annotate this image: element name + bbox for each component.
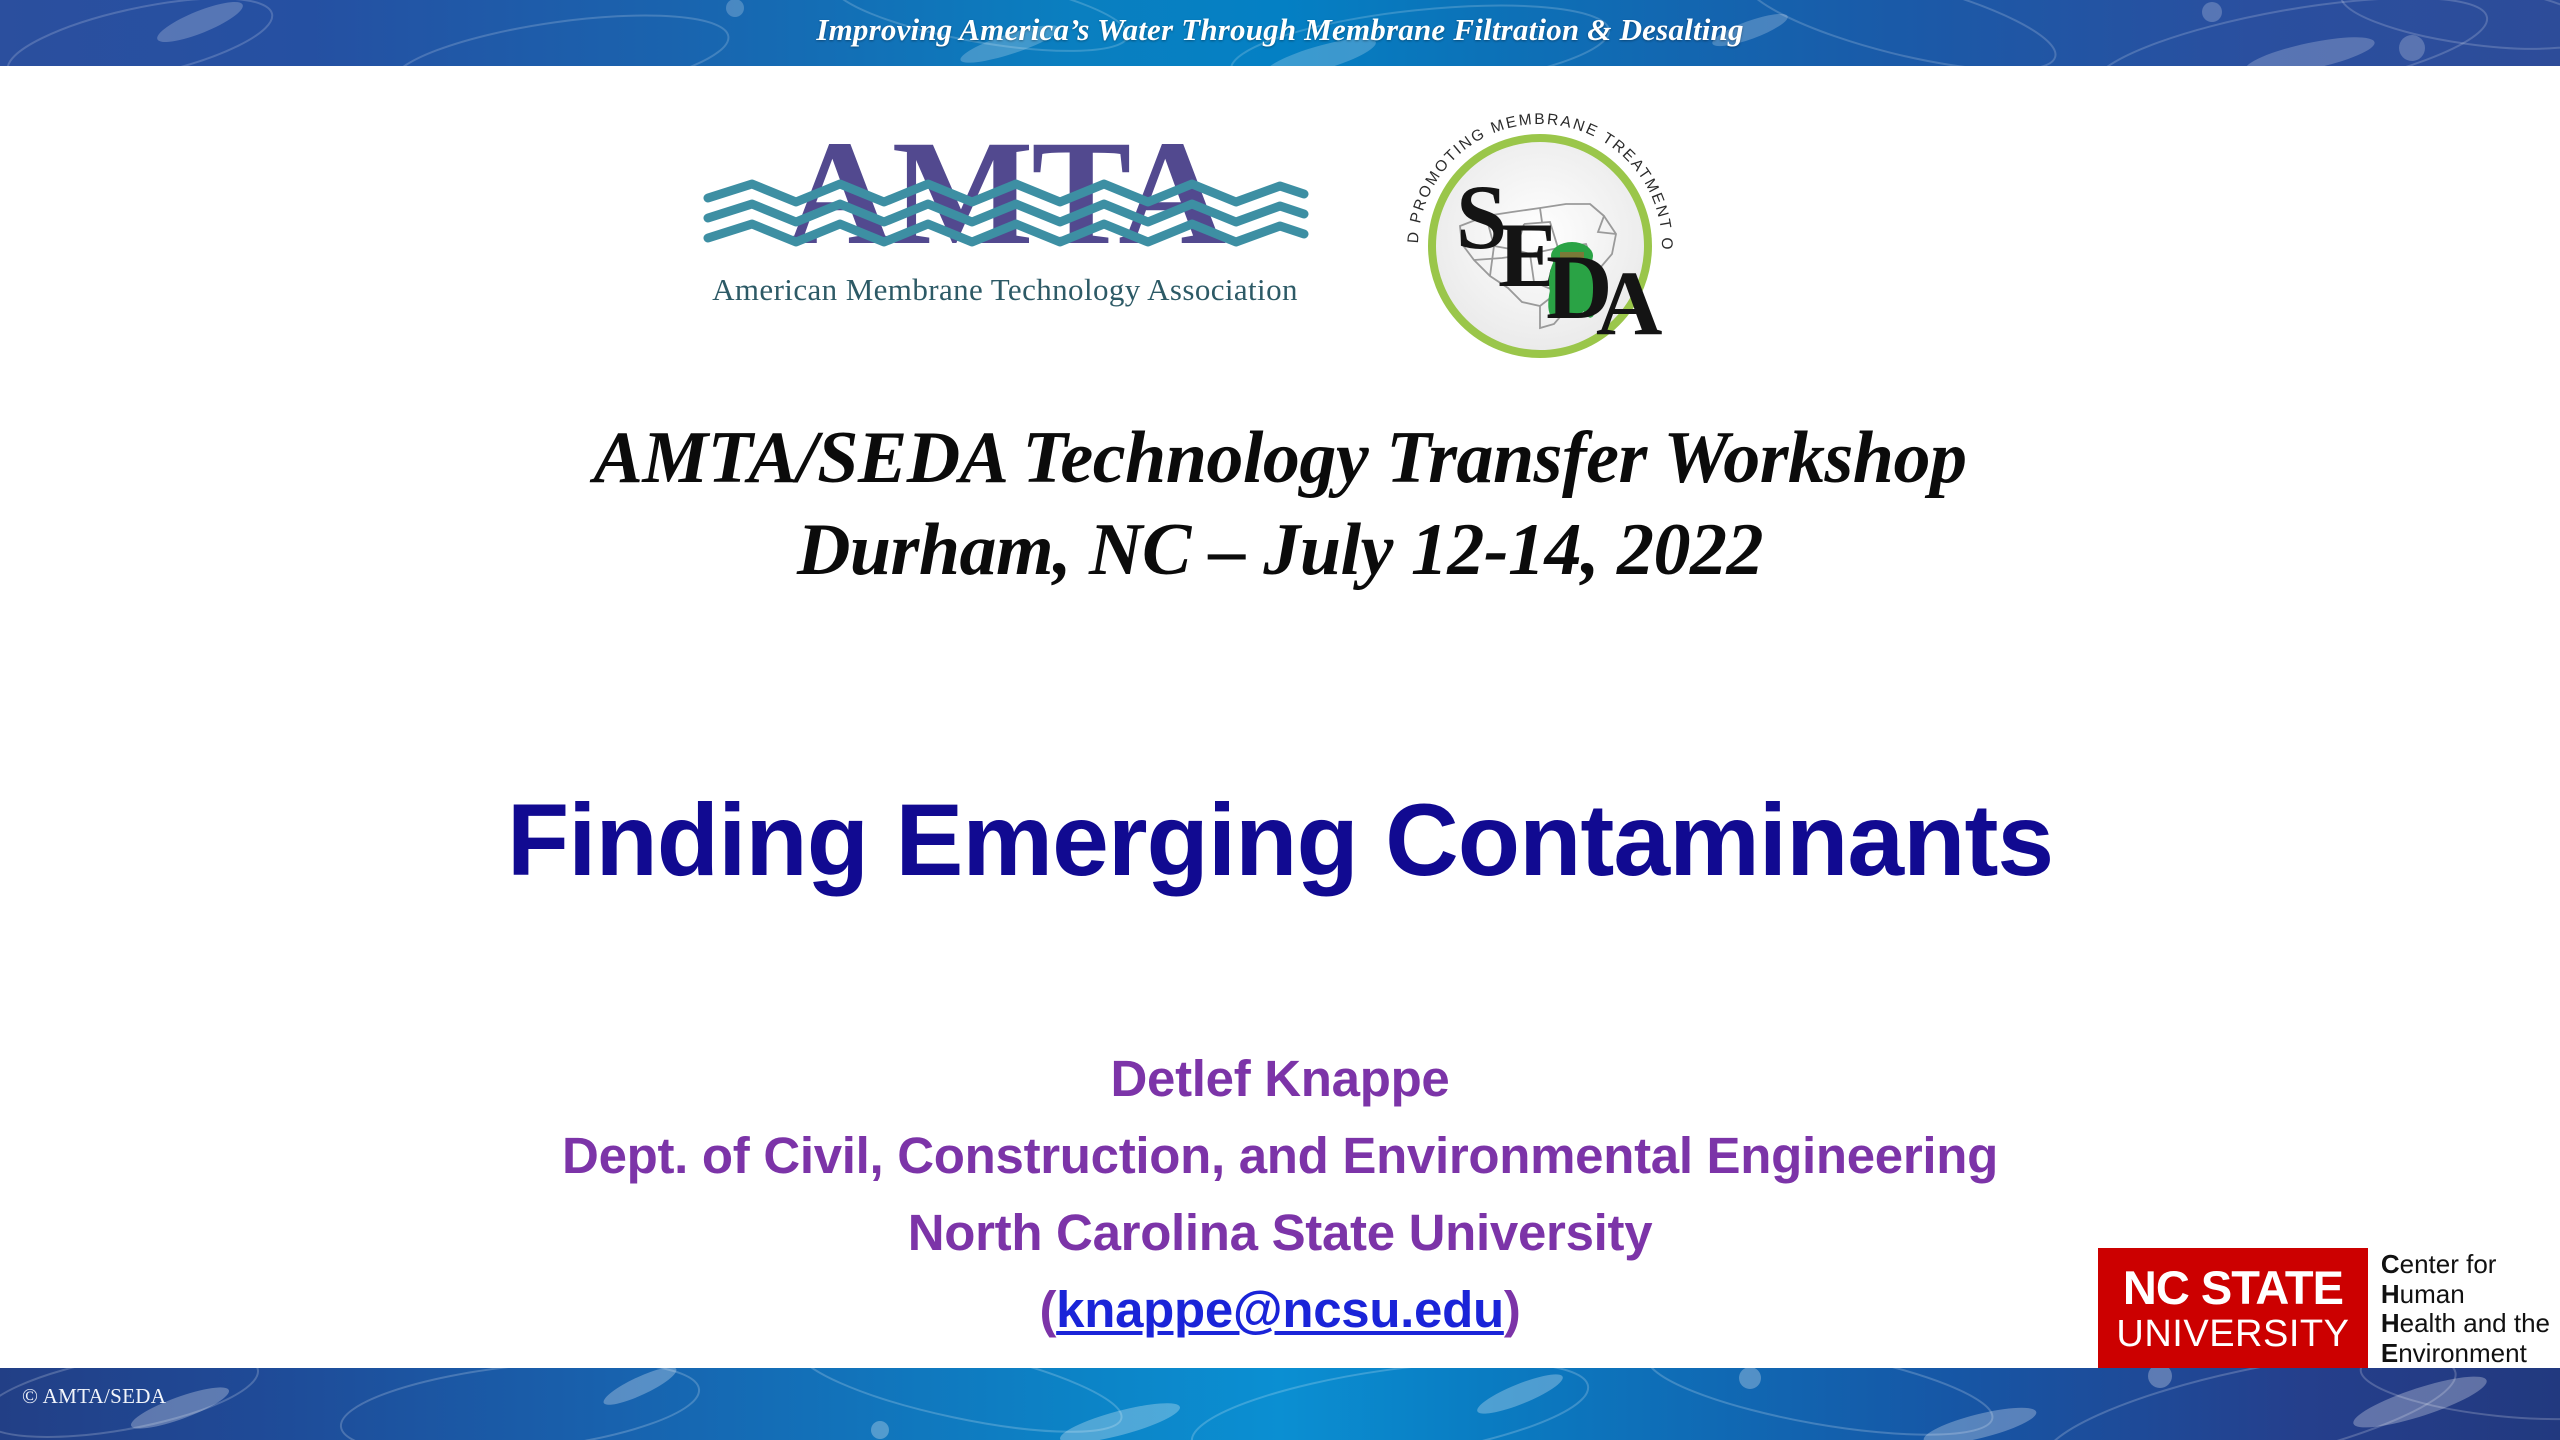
bottom-banner: © AMTA/SEDA [0, 1368, 2560, 1440]
nc-state-wordmark: NC STATE UNIVERSITY [2098, 1248, 2368, 1370]
chhe-line-3-rest: ealth and the [2400, 1308, 2550, 1338]
chhe-text: Center for Human Health and the Environm… [2381, 1248, 2550, 1368]
chhe-line-4: Environment [2381, 1339, 2550, 1369]
chhe-line-2-rest: uman [2400, 1279, 2465, 1309]
workshop-line-1: AMTA/SEDA Technology Transfer Workshop [0, 412, 2560, 504]
chhe-line-4-initial: E [2381, 1338, 2398, 1368]
seda-logo: S E D A SERVING AND PROMOTING MEMBRANE T… [1390, 96, 1690, 366]
email-link[interactable]: knappe@ncsu.edu [1056, 1281, 1504, 1338]
amta-subtitle: American Membrane Technology Association [700, 272, 1310, 308]
workshop-line-2: Durham, NC – July 12-14, 2022 [0, 504, 2560, 596]
nc-state-line1: NC STATE [2123, 1263, 2343, 1313]
chhe-line-2-initial: H [2381, 1279, 2400, 1309]
amta-logo: AMTA American Membrane Technology Associ… [700, 126, 1310, 326]
amta-wave-icon [700, 178, 1310, 254]
author-department: Dept. of Civil, Construction, and Enviro… [0, 1117, 2560, 1194]
chhe-line-3: Health and the [2381, 1309, 2550, 1339]
chhe-line-1: Center for [2381, 1250, 2550, 1280]
email-close-paren: ) [1504, 1281, 1521, 1338]
svg-text:A: A [1596, 252, 1662, 354]
workshop-heading: AMTA/SEDA Technology Transfer Workshop D… [0, 412, 2560, 596]
banner-tagline: Improving America’s Water Through Membra… [0, 0, 2560, 66]
nc-state-line2: UNIVERSITY [2116, 1313, 2349, 1355]
footer-bubbles-decoration [0, 1368, 2560, 1440]
chhe-line-4-rest: nvironment [2398, 1338, 2527, 1368]
slide-title: Finding Emerging Contaminants [0, 780, 2560, 900]
chhe-line-1-initial: C [2381, 1249, 2400, 1279]
chhe-line-3-initial: H [2381, 1308, 2400, 1338]
ncsu-chhe-logo: NC STATE UNIVERSITY Center for Human Hea… [2098, 1248, 2550, 1370]
amta-wordmark: AMTA [700, 126, 1310, 276]
chhe-line-2: Human [2381, 1280, 2550, 1310]
top-banner: Improving America’s Water Through Membra… [0, 0, 2560, 66]
author-name: Detlef Knappe [0, 1040, 2560, 1117]
copyright-label: © AMTA/SEDA [22, 1384, 166, 1409]
email-open-paren: ( [1039, 1281, 1056, 1338]
chhe-line-1-rest: enter for [2400, 1249, 2497, 1279]
logo-row: AMTA American Membrane Technology Associ… [0, 96, 2560, 366]
